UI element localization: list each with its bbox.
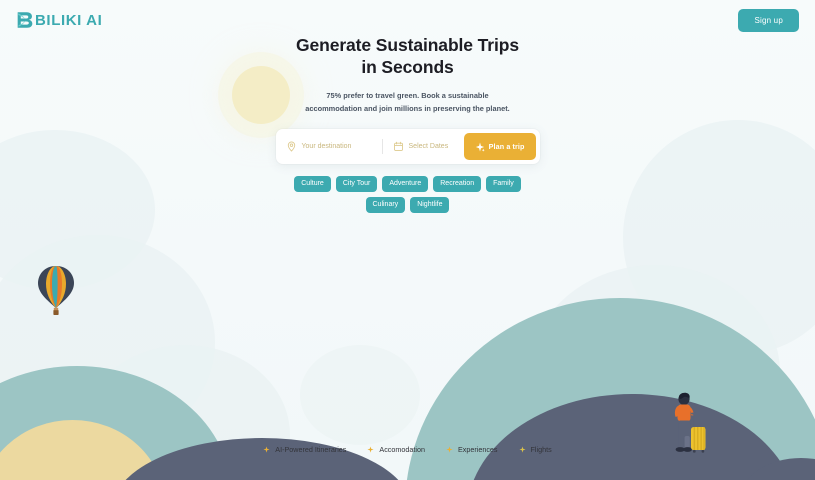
sparkle-dot-icon <box>263 446 270 453</box>
brand-logo[interactable]: BILIKI AI <box>14 9 102 31</box>
feature-label: Flights <box>531 445 552 454</box>
hot-air-balloon-illustration <box>36 264 76 324</box>
dates-field[interactable]: Select Dates <box>383 129 464 164</box>
tag-culture[interactable]: Culture <box>294 176 331 192</box>
page-header: BILIKI AI Sign up <box>0 0 815 40</box>
sparkle-dot-icon <box>519 446 526 453</box>
cloud-shape <box>80 345 290 480</box>
tag-adventure[interactable]: Adventure <box>382 176 428 192</box>
category-tags: Culture City Tour Adventure Recreation F… <box>293 176 523 213</box>
page-title-line-2: in Seconds <box>361 57 453 77</box>
destination-placeholder: Your destination <box>302 143 352 150</box>
sparkle-icon <box>475 142 485 152</box>
tag-culinary[interactable]: Culinary <box>366 197 406 213</box>
tag-family[interactable]: Family <box>486 176 521 192</box>
feature-experiences: Experiences <box>446 445 498 454</box>
feature-label: AI-Powered Itineraries <box>275 445 346 454</box>
hill-teal-left <box>0 366 232 480</box>
cloud-shape <box>300 345 420 445</box>
plan-a-trip-button[interactable]: Plan a trip <box>464 133 536 160</box>
traveler-with-suitcase-icon <box>668 390 712 460</box>
cloud-shape <box>455 355 620 480</box>
hero-subtitle: 75% prefer to travel green. Book a susta… <box>302 90 514 115</box>
dates-placeholder: Select Dates <box>409 143 449 150</box>
sparkle-dot-icon <box>446 446 453 453</box>
logo-b-mark-icon <box>14 9 36 31</box>
tag-city-tour[interactable]: City Tour <box>336 176 378 192</box>
calendar-icon <box>393 141 404 152</box>
hill-slate-right <box>467 394 797 480</box>
sparkle-dot-icon <box>367 446 374 453</box>
signup-button[interactable]: Sign up <box>738 9 799 32</box>
destination-field[interactable]: Your destination <box>286 129 382 164</box>
plan-a-trip-label: Plan a trip <box>489 142 525 151</box>
tag-recreation[interactable]: Recreation <box>433 176 481 192</box>
search-bar: Your destination Select Dates Plan a tri… <box>276 129 540 164</box>
location-pin-icon <box>286 141 297 152</box>
traveler-illustration <box>668 390 712 465</box>
hot-air-balloon-icon <box>36 264 76 319</box>
landing-page: BILIKI AI Sign up Generate Sustainable T… <box>0 0 815 480</box>
brand-name: BILIKI AI <box>35 12 102 29</box>
tag-nightlife[interactable]: Nightlife <box>410 197 449 213</box>
feature-accomodation: Accomodation <box>367 445 425 454</box>
cloud-shape <box>0 235 215 450</box>
feature-ai-powered-itineraries: AI-Powered Itineraries <box>263 445 346 454</box>
hill-slate-edge <box>741 458 815 480</box>
hero-section: Generate Sustainable Trips in Seconds 75… <box>0 34 815 213</box>
page-title: Generate Sustainable Trips in Seconds <box>296 34 519 79</box>
feature-label: Experiences <box>458 445 498 454</box>
feature-flights: Flights <box>519 445 552 454</box>
feature-label: Accomodation <box>379 445 425 454</box>
